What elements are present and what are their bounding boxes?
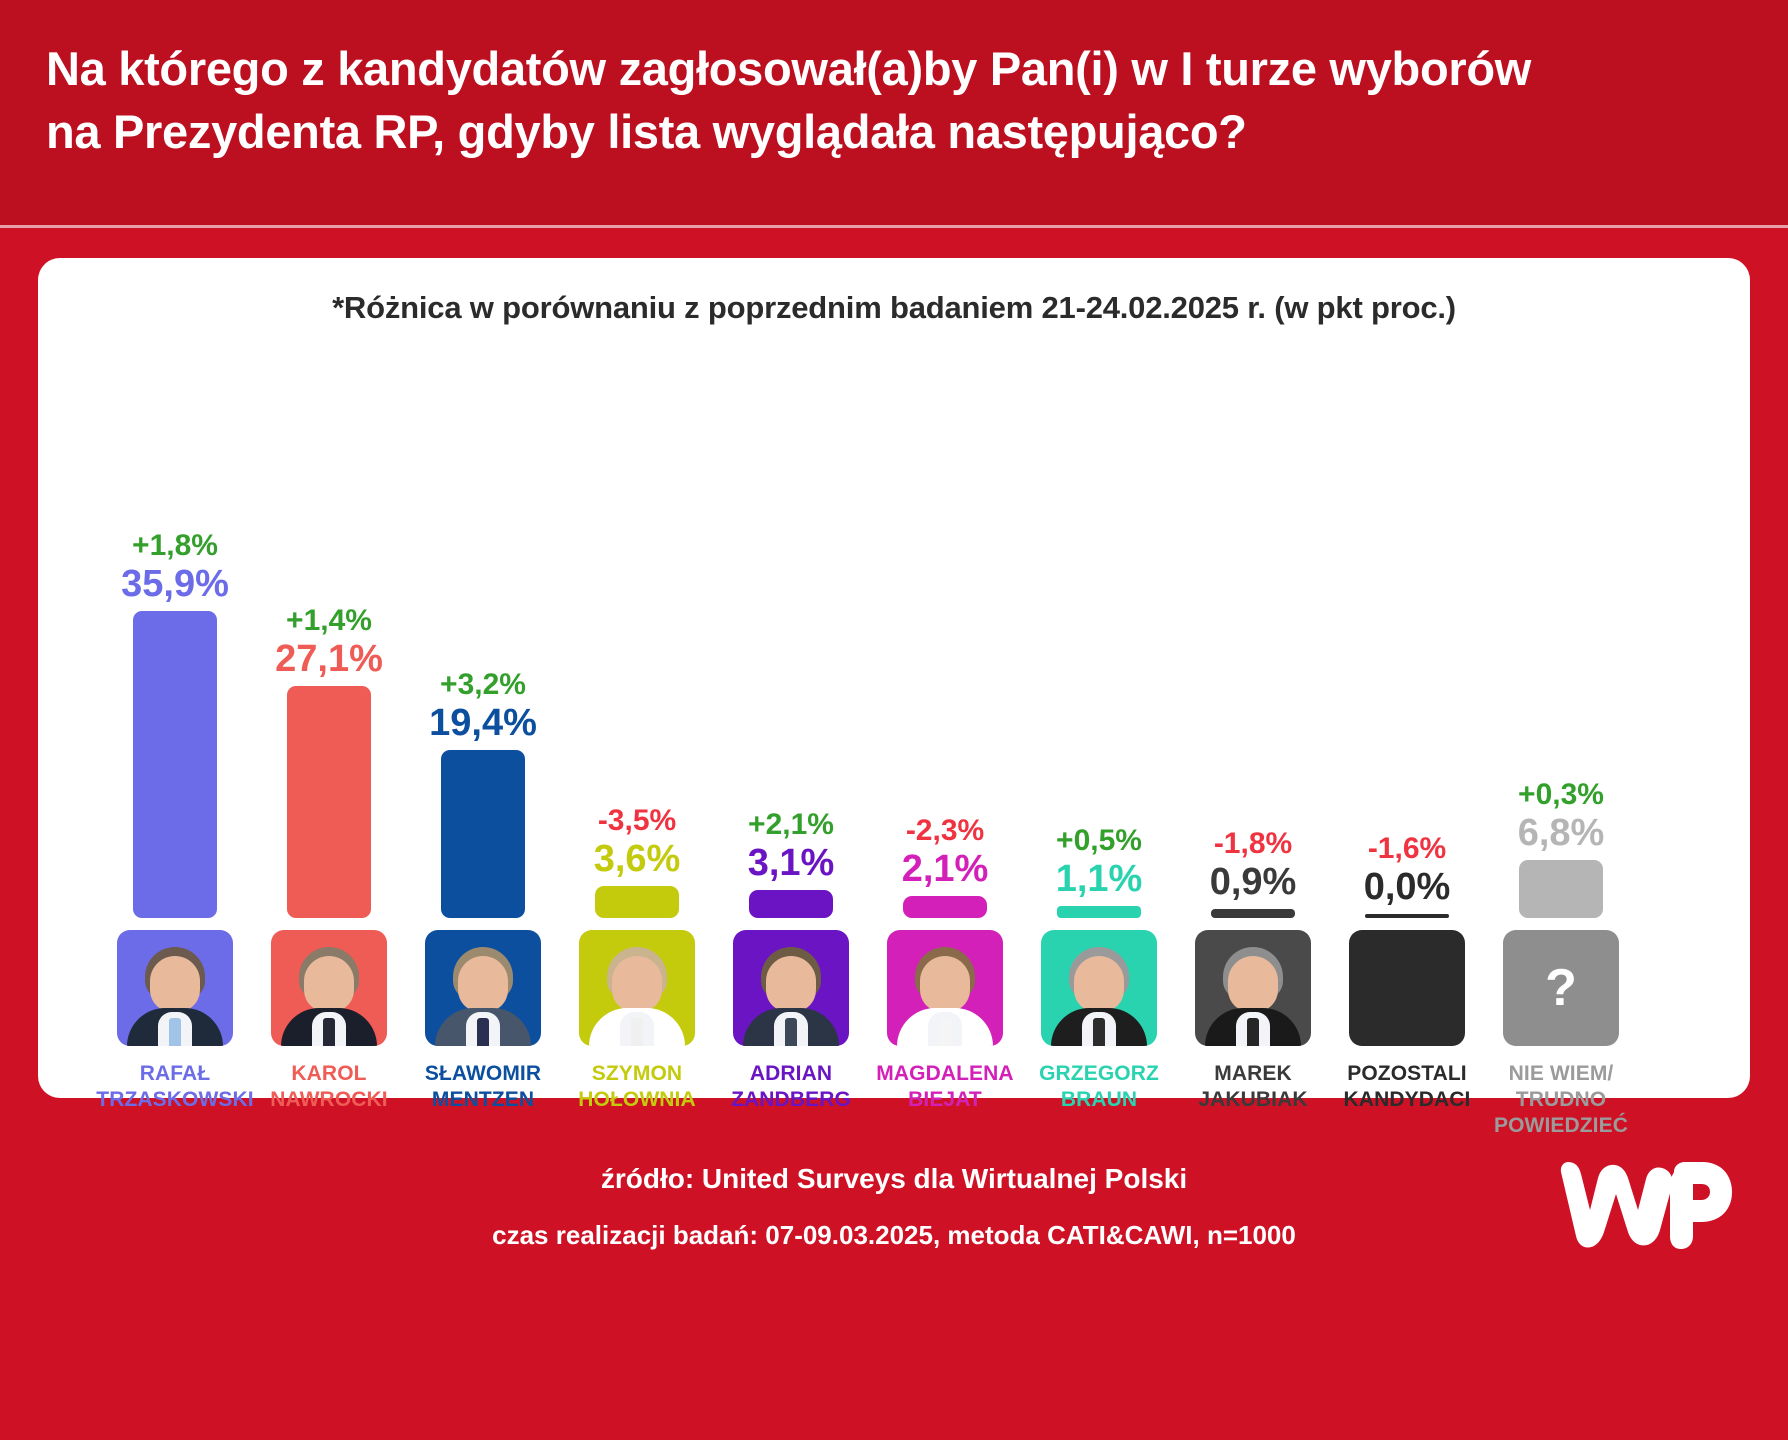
value-label: 2,1% xyxy=(902,847,989,892)
delta-label: +0,3% xyxy=(1518,778,1604,812)
infographic-root: Na którego z kandydatów zagłosował(a)by … xyxy=(0,0,1788,1440)
candidate-name: SZYMON HOŁOWNIA xyxy=(578,1061,695,1113)
portrait-face xyxy=(612,956,662,1012)
candidate-cell: MAREK JAKUBIAK xyxy=(1184,930,1322,1090)
bar xyxy=(1057,906,1141,918)
value-label: 3,6% xyxy=(594,837,681,882)
portrait-tie xyxy=(477,1018,489,1046)
bar-column: +1,8%35,9% xyxy=(106,353,244,918)
candidate-cell: KAROL NAWROCKI xyxy=(260,930,398,1090)
delta-label: +2,1% xyxy=(748,808,834,842)
bar-column: -1,8%0,9% xyxy=(1184,353,1322,918)
value-label: 1,1% xyxy=(1056,857,1143,902)
candidate-name: MAGDALENA BIEJAT xyxy=(876,1061,1013,1113)
value-label: 27,1% xyxy=(275,637,383,682)
header-banner: Na którego z kandydatów zagłosował(a)by … xyxy=(0,0,1788,228)
portrait-face xyxy=(1074,956,1124,1012)
delta-label: +0,5% xyxy=(1056,824,1142,858)
bar xyxy=(287,686,371,918)
portrait-tie xyxy=(785,1018,797,1046)
footer-method: czas realizacji badań: 07-09.03.2025, me… xyxy=(0,1220,1788,1251)
candidate-cell: GRZEGORZ BRAUN xyxy=(1030,930,1168,1090)
delta-label: -1,8% xyxy=(1214,827,1292,861)
bar xyxy=(441,750,525,918)
delta-label: -2,3% xyxy=(906,814,984,848)
candidate-cell: RAFAŁ TRZASKOWSKI xyxy=(106,930,244,1090)
portrait-tie xyxy=(939,1018,951,1046)
candidate-photo xyxy=(1349,930,1465,1046)
portrait-tie xyxy=(323,1018,335,1046)
candidate-cell: ADRIAN ZANDBERG xyxy=(722,930,860,1090)
portrait-face xyxy=(1228,956,1278,1012)
value-label: 19,4% xyxy=(429,701,537,746)
chart-subtitle: *Różnica w porównaniu z poprzednim badan… xyxy=(38,290,1750,326)
portrait-tie xyxy=(169,1018,181,1046)
candidate-cell: SŁAWOMIR MENTZEN xyxy=(414,930,552,1090)
portrait-face xyxy=(766,956,816,1012)
bar xyxy=(1519,860,1603,918)
unknown-placeholder-icon: ? xyxy=(1503,930,1619,1046)
bar-column: -3,5%3,6% xyxy=(568,353,706,918)
value-label: 35,9% xyxy=(121,562,229,607)
bar xyxy=(903,896,987,918)
bar-column: -1,6%0,0% xyxy=(1338,353,1476,918)
bar-column: +0,3%6,8% xyxy=(1492,353,1630,918)
candidate-photo xyxy=(271,930,387,1046)
bar-column: +3,2%19,4% xyxy=(414,353,552,918)
candidate-photo xyxy=(117,930,233,1046)
candidate-name: KAROL NAWROCKI xyxy=(270,1061,387,1113)
portrait-face xyxy=(920,956,970,1012)
candidate-name: SŁAWOMIR MENTZEN xyxy=(425,1061,541,1113)
candidate-cell: MAGDALENA BIEJAT xyxy=(876,930,1014,1090)
footer-source: źródło: United Surveys dla Wirtualnej Po… xyxy=(0,1163,1788,1195)
portrait-tie xyxy=(1093,1018,1105,1046)
bar-column: +1,4%27,1% xyxy=(260,353,398,918)
bar xyxy=(1365,914,1449,918)
candidate-name: ADRIAN ZANDBERG xyxy=(731,1061,851,1113)
candidate-cell: SZYMON HOŁOWNIA xyxy=(568,930,706,1090)
candidate-photo xyxy=(1195,930,1311,1046)
bar-column: +0,5%1,1% xyxy=(1030,353,1168,918)
candidate-cell: POZOSTALI KANDYDACI xyxy=(1338,930,1476,1090)
candidate-photo xyxy=(1041,930,1157,1046)
bar-chart-plot: +1,8%35,9%+1,4%27,1%+3,2%19,4%-3,5%3,6%+… xyxy=(98,353,1698,918)
portrait-face xyxy=(150,956,200,1012)
candidate-cell: ?NIE WIEM/ TRUDNO POWIEDZIEĆ xyxy=(1492,930,1630,1090)
candidate-photo xyxy=(425,930,541,1046)
bar xyxy=(595,886,679,918)
delta-label: +1,4% xyxy=(286,604,372,638)
delta-label: -1,6% xyxy=(1368,832,1446,866)
bar xyxy=(749,890,833,918)
delta-label: +3,2% xyxy=(440,668,526,702)
bar-column: -2,3%2,1% xyxy=(876,353,1014,918)
question-mark-icon: ? xyxy=(1503,930,1619,1046)
value-label: 3,1% xyxy=(748,841,835,886)
candidate-portraits-row: RAFAŁ TRZASKOWSKIKAROL NAWROCKISŁAWOMIR … xyxy=(98,930,1698,1090)
bar xyxy=(1211,909,1295,918)
portrait-face xyxy=(304,956,354,1012)
wp-logo-icon xyxy=(1550,1140,1740,1260)
footer-banner: źródło: United Surveys dla Wirtualnej Po… xyxy=(0,1108,1788,1440)
value-label: 0,9% xyxy=(1210,860,1297,905)
portrait-tie xyxy=(1247,1018,1259,1046)
candidate-name: GRZEGORZ BRAUN xyxy=(1039,1061,1159,1113)
candidate-name: RAFAŁ TRZASKOWSKI xyxy=(96,1061,253,1113)
candidate-photo xyxy=(579,930,695,1046)
bar xyxy=(133,611,217,918)
chart-card: *Różnica w porównaniu z poprzednim badan… xyxy=(38,258,1750,1098)
portrait-face xyxy=(458,956,508,1012)
candidate-photo xyxy=(733,930,849,1046)
candidate-name: MAREK JAKUBIAK xyxy=(1198,1061,1307,1113)
candidate-photo xyxy=(887,930,1003,1046)
candidate-name: POZOSTALI KANDYDACI xyxy=(1344,1061,1471,1113)
page-title: Na którego z kandydatów zagłosował(a)by … xyxy=(46,38,1742,163)
value-label: 6,8% xyxy=(1518,811,1605,856)
value-label: 0,0% xyxy=(1364,865,1451,910)
delta-label: -3,5% xyxy=(598,804,676,838)
portrait-tie xyxy=(631,1018,643,1046)
delta-label: +1,8% xyxy=(132,529,218,563)
bar-column: +2,1%3,1% xyxy=(722,353,860,918)
